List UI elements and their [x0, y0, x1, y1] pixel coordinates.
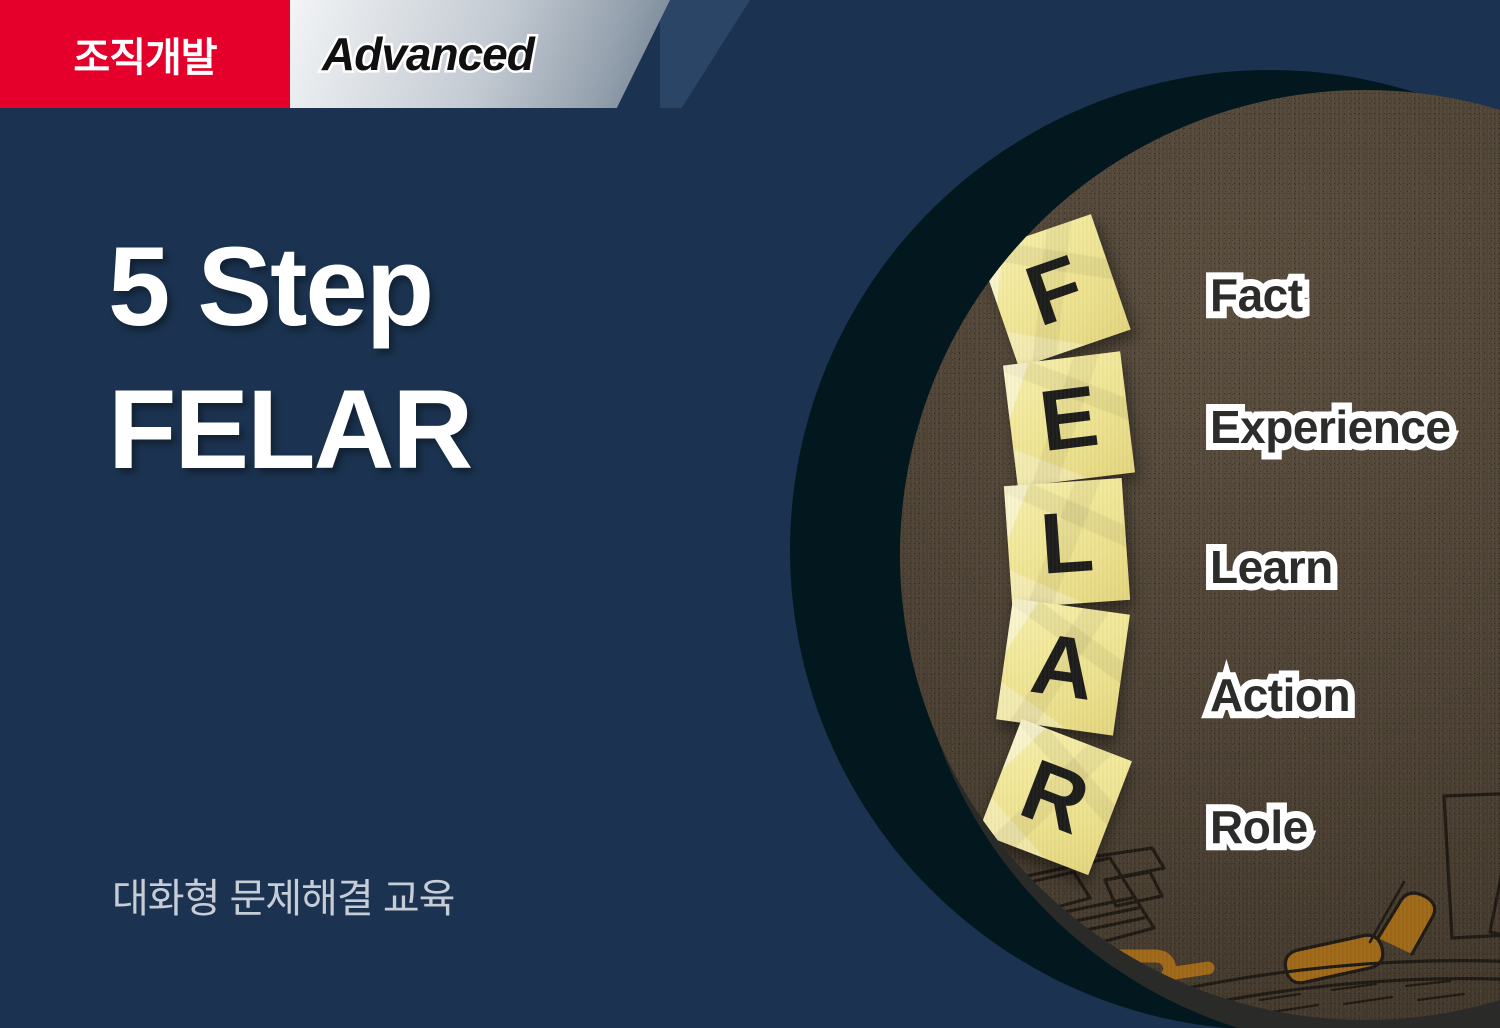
word-label-experience: Experience: [1210, 400, 1450, 454]
page-subtitle: 대화형 문제해결 교육: [112, 866, 454, 924]
sticky-note-e: E: [1003, 351, 1135, 486]
title-line-2: FELAR: [108, 358, 471, 501]
sticky-note-a: A: [996, 598, 1130, 735]
artwork-stage: F E L A R Fact Experience Learn: [760, 0, 1500, 1028]
word-label-learn: Learn: [1210, 540, 1333, 594]
sticky-note-l: L: [1004, 478, 1130, 608]
word-label-role: Role: [1210, 800, 1308, 854]
sticky-note-f: F: [979, 214, 1130, 368]
sticky-note-letter: L: [1038, 498, 1096, 587]
sticky-note-r: R: [978, 719, 1132, 875]
level-badge-label: Advanced: [322, 27, 534, 81]
page-title: 5 Step FELAR: [108, 215, 471, 502]
cork-photo-circle: F E L A R: [900, 90, 1500, 1020]
level-badge: Advanced: [290, 0, 670, 108]
sticky-note-column: F E L A R: [900, 90, 1500, 1020]
sticky-note-letter: E: [1035, 373, 1102, 465]
category-badge-label: 조직개발: [73, 25, 216, 83]
word-label-action: Action: [1210, 668, 1350, 722]
top-banner: 조직개발 Advanced: [0, 0, 670, 108]
slide-canvas: F E L A R Fact Experience Learn: [0, 0, 1500, 1028]
category-badge: 조직개발: [0, 0, 290, 108]
title-line-1: 5 Step: [108, 215, 471, 358]
sticky-note-letter: R: [1011, 746, 1100, 849]
banner-tail-shape: [660, 0, 750, 108]
word-label-fact: Fact: [1210, 268, 1303, 322]
sticky-note-letter: A: [1026, 620, 1099, 714]
sticky-note-letter: F: [1016, 242, 1094, 340]
